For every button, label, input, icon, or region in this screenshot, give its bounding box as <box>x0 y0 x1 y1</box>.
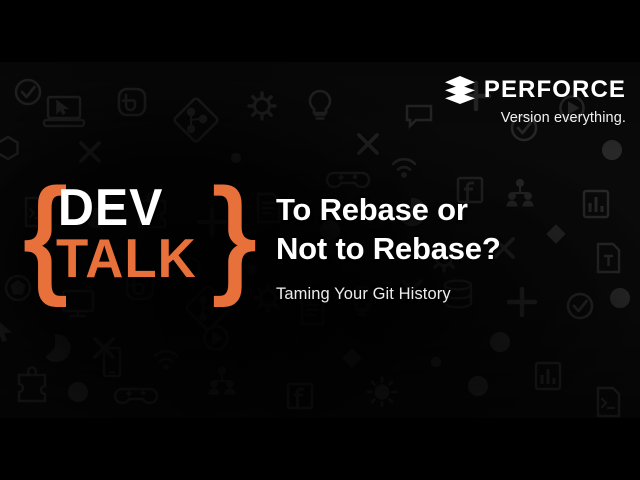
perforce-wordmark: PERFORCE <box>484 78 626 102</box>
letterbox-bottom <box>0 418 640 480</box>
slide-content-area: PERFORCE Version everything. { } DEV TAL… <box>0 62 640 418</box>
title-line-1: To Rebase or <box>276 190 626 229</box>
slide-canvas: PERFORCE Version everything. { } DEV TAL… <box>0 0 640 480</box>
title-block: To Rebase or Not to Rebase? Taming Your … <box>276 190 626 305</box>
perforce-tagline: Version everything. <box>445 111 626 126</box>
perforce-logo-row: PERFORCE <box>445 76 626 104</box>
talk-text: TALK <box>56 235 219 282</box>
dev-text: DEV <box>56 186 219 231</box>
letterbox-top <box>0 0 640 62</box>
dev-talk-logo: { } DEV TALK <box>24 184 256 296</box>
title-line-2: Not to Rebase? <box>276 229 626 268</box>
perforce-stacked-diamonds-logo <box>445 76 475 104</box>
perforce-brand-lockup: PERFORCE Version everything. <box>445 76 626 126</box>
subtitle: Taming Your Git History <box>276 285 626 305</box>
dev-talk-wordmark: DEV TALK <box>56 186 226 282</box>
